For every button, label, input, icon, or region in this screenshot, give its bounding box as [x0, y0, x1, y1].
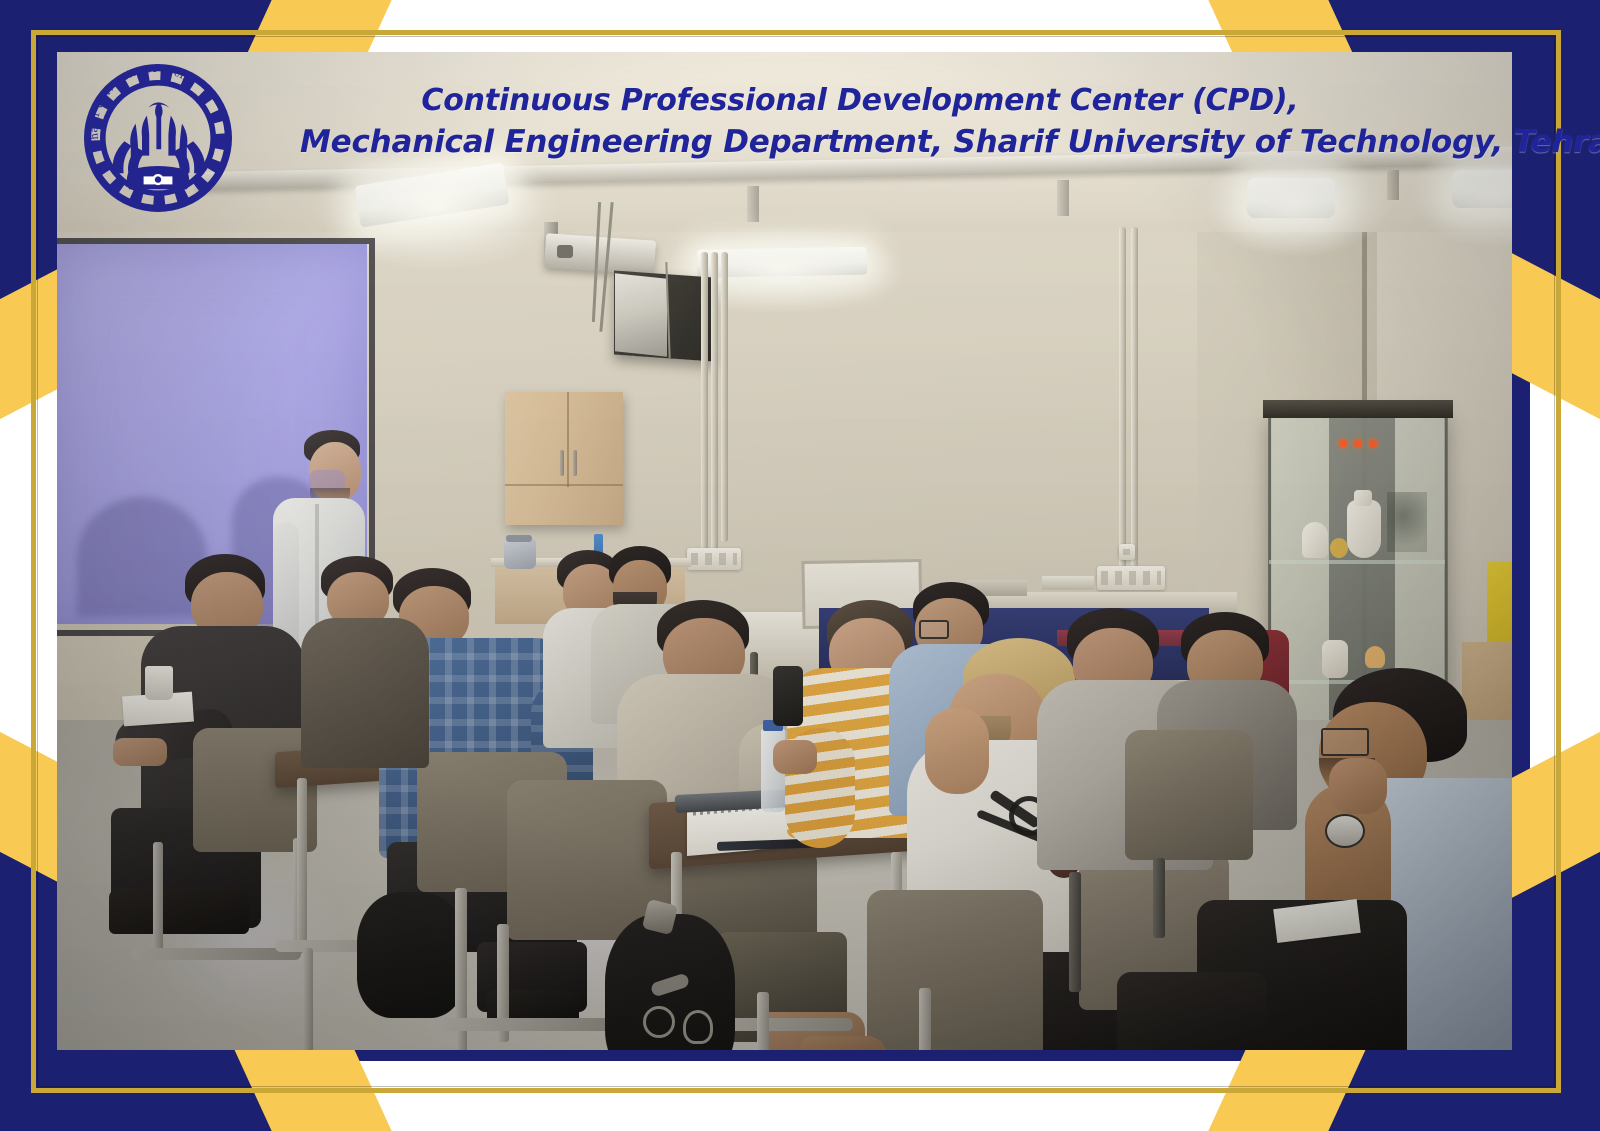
student-arm [925, 708, 989, 794]
poster-title-line-1: Continuous Professional Development Cent… [300, 80, 1420, 121]
wall-conduit [711, 252, 718, 552]
wristwatch [1325, 814, 1365, 848]
desk-leg [303, 948, 313, 1050]
wall-conduit [701, 252, 708, 552]
student-torso [301, 618, 429, 768]
backpack-logo [683, 1010, 713, 1044]
cabinet-door-split [567, 392, 569, 487]
backpack-dark [1117, 972, 1267, 1050]
dried-branch-decor [1387, 492, 1427, 552]
desk-leg [297, 778, 307, 950]
display-object [1365, 646, 1385, 668]
chair-leg [455, 888, 467, 1028]
classroom-chair-back [1125, 730, 1253, 860]
display-cabinet-top-frame [1263, 400, 1453, 418]
student-hand [113, 738, 167, 766]
classroom-photograph: Metal [57, 52, 1512, 1050]
frame-band-right [1530, 0, 1600, 1131]
kettle-lid [506, 535, 532, 542]
student-shoe [109, 888, 249, 934]
classroom-chair-back [867, 890, 1043, 1050]
wall-conduit [721, 252, 728, 542]
chair-leg [919, 988, 931, 1050]
poster-title: Continuous Professional Development Cent… [300, 80, 1420, 164]
ceramic-vase [1347, 500, 1381, 558]
projector-lens [557, 245, 573, 258]
paper-cup [145, 666, 173, 700]
student-hand [773, 740, 817, 774]
beam-bracket [1387, 170, 1399, 200]
frame-band-bottom [0, 1061, 1600, 1131]
backpack-logo-ring [643, 1006, 675, 1038]
chair-leg [1153, 858, 1165, 938]
display-shelf [1269, 560, 1445, 564]
cabinet-shelf-line [505, 484, 623, 486]
wall-cabinet [505, 392, 623, 525]
beam-bracket [1057, 180, 1069, 216]
wall-conduit [1119, 227, 1126, 567]
backpack [357, 892, 465, 1018]
vase-neck [1354, 490, 1372, 506]
power-outlet [1097, 566, 1165, 590]
power-outlet [687, 548, 741, 570]
ceiling-light-panel [1452, 170, 1512, 208]
electric-kettle [504, 539, 536, 569]
cabinet-handle [573, 450, 577, 476]
chair-foot-rail [429, 1018, 619, 1031]
beam-bracket [747, 186, 759, 222]
sharif-university-of-technology-logo: Sharif University of Technology [78, 58, 238, 218]
sandal-foot [801, 1036, 887, 1050]
ceiling-light-panel [1247, 178, 1335, 218]
eyeglasses [1321, 728, 1369, 756]
back-object [1042, 576, 1094, 590]
poster-frame: Metal [0, 0, 1600, 1131]
poster-title-line-2: Mechanical Engineering Department, Shari… [300, 121, 1420, 164]
ceramic-figurine [1302, 522, 1328, 558]
desk-leg [757, 992, 769, 1050]
speaker-face [615, 273, 667, 356]
display-object [1322, 640, 1348, 678]
student-hand-on-chin [1329, 758, 1387, 814]
handheld-device [773, 666, 803, 726]
junction-box [1119, 544, 1135, 560]
chair-post [1069, 872, 1081, 992]
wall-conduit [1131, 227, 1138, 567]
display-object [1330, 538, 1348, 558]
chair-leg [153, 842, 163, 958]
eyeglasses [919, 620, 949, 639]
led-indicator-strip [1339, 440, 1385, 448]
cabinet-handle [560, 450, 564, 476]
